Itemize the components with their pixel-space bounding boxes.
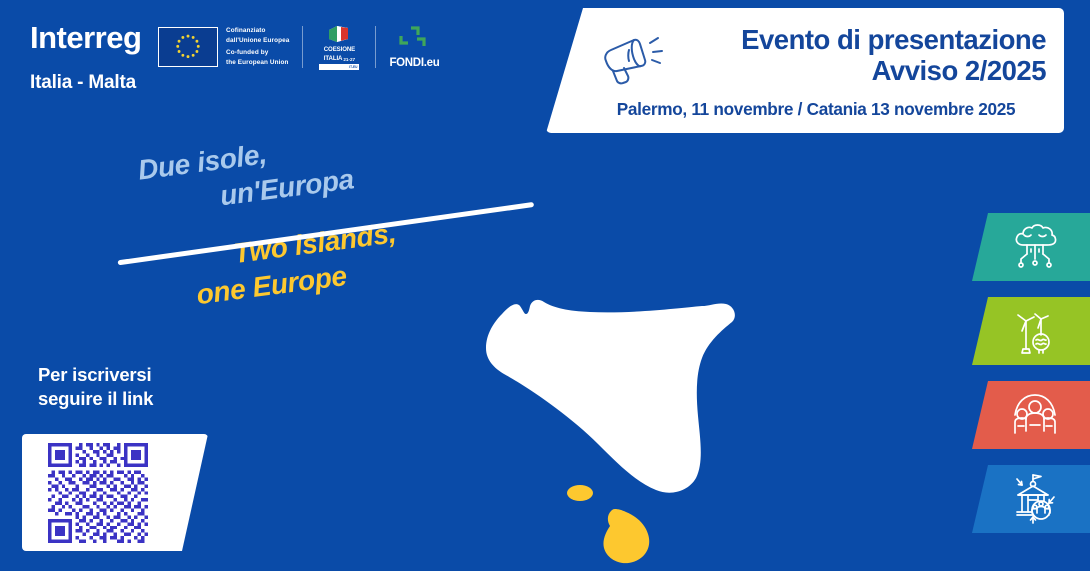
coesione-line1: COESIONE: [324, 46, 355, 53]
logo-divider-1: [302, 26, 303, 68]
eu-flag-icon: [158, 27, 218, 67]
green-energy-card[interactable]: [972, 297, 1090, 365]
interreg-branding: Interreg Italia - Malta: [30, 22, 141, 92]
institution-building-icon: [1009, 473, 1061, 525]
registration-qr-code[interactable]: [48, 443, 148, 543]
map-sicily-malta: [450, 278, 760, 571]
event-poster: Interreg Italia - Malta Cofinanziato: [0, 0, 1090, 571]
coesione-line2: ITALIA: [324, 55, 343, 62]
banner-title: Evento di presentazione Avviso 2/2025: [664, 25, 1046, 87]
coesione-bar-text: IT-EU: [349, 65, 359, 69]
malta-island-shape: [603, 509, 649, 563]
fondi-eu-logo: FONDI.eu: [389, 25, 439, 69]
banner-title-line1: Evento di presentazione: [664, 25, 1046, 56]
governance-card[interactable]: [972, 465, 1090, 533]
megaphone-icon: [598, 29, 664, 85]
event-banner: Evento di presentazione Avviso 2/2025 Pa…: [546, 8, 1064, 133]
registration-cta-text: Per iscriversi seguire il link: [38, 363, 153, 412]
logo-divider-2: [375, 26, 376, 68]
eu-caption-line3: Co-funded by: [226, 48, 289, 58]
cloud-network-icon: [1009, 221, 1061, 273]
coesione-italia-logo: COESIONE ITALIA 21-27 IT-EU: [316, 24, 362, 70]
eu-caption-line4: the European Union: [226, 58, 289, 68]
fondi-brackets-icon: [397, 25, 431, 53]
program-name: Interreg: [30, 22, 141, 53]
cta-line2: seguire il link: [38, 387, 153, 411]
banner-top-row: Evento di presentazione Avviso 2/2025: [546, 8, 1064, 87]
banner-title-line2: Avviso 2/2025: [664, 56, 1046, 87]
sicily-island-shape: [486, 300, 735, 493]
coesione-bar: IT-EU: [319, 64, 359, 70]
social-inclusion-card[interactable]: [972, 381, 1090, 449]
coesione-cube-icon: [326, 24, 352, 44]
funder-logos: Cofinanziato dall'Unione Europea Co-fund…: [158, 22, 439, 72]
eu-caption-line1: Cofinanziato: [226, 26, 289, 36]
cta-line1: Per iscriversi: [38, 363, 153, 387]
banner-subtitle: Palermo, 11 novembre / Catania 13 novemb…: [546, 99, 1064, 120]
qr-code-card[interactable]: [22, 434, 208, 551]
fondi-eu-label: FONDI.eu: [389, 57, 439, 69]
coesione-years: 21-27: [343, 57, 355, 62]
digital-innovation-card[interactable]: [972, 213, 1090, 281]
eu-caption-line2: dall'Unione Europea: [226, 36, 289, 46]
gozo-island-shape: [567, 485, 593, 501]
wind-turbine-icon: [1009, 305, 1061, 357]
eu-cofunded-logo: Cofinanziato dall'Unione Europea Co-fund…: [158, 26, 289, 68]
theme-cards: [972, 213, 1090, 549]
people-group-icon: [1009, 389, 1061, 441]
program-area: Italia - Malta: [30, 73, 141, 92]
eu-cofunded-caption: Cofinanziato dall'Unione Europea Co-fund…: [226, 26, 289, 68]
